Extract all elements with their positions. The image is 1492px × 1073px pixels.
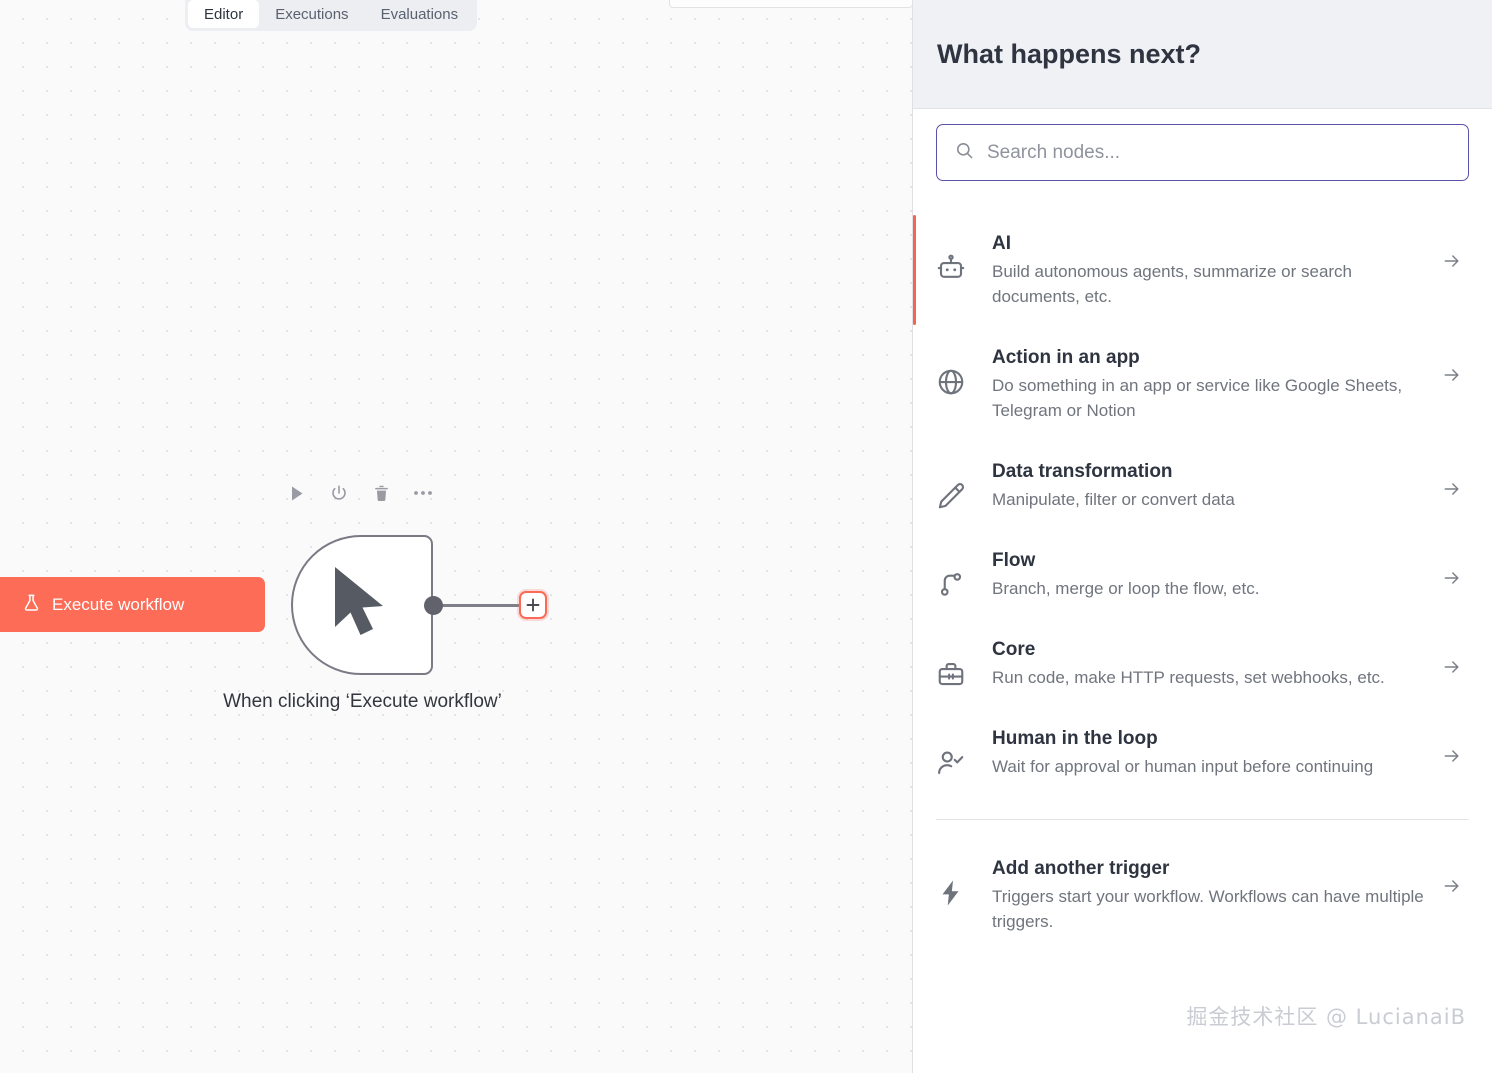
category-title: Add another trigger (992, 856, 1425, 882)
category-text: Core Run code, make HTTP requests, set w… (992, 637, 1441, 690)
category-action-in-an-app[interactable]: Action in an app Do something in an app … (936, 327, 1469, 441)
execute-workflow-button[interactable]: Execute workflow (0, 577, 265, 632)
category-title: Flow (992, 548, 1425, 574)
node-output-connector[interactable] (424, 596, 443, 615)
nodes-side-panel: What happens next? (912, 0, 1492, 1073)
panel-body: AI Build autonomous agents, summarize or… (913, 109, 1492, 1073)
execute-workflow-label: Execute workflow (52, 595, 184, 615)
add-node-plus-button[interactable] (519, 591, 547, 619)
category-title: Human in the loop (992, 726, 1425, 752)
category-description: Manipulate, filter or convert data (992, 487, 1425, 512)
play-icon[interactable] (286, 482, 308, 504)
chevron-right-icon[interactable] (1441, 345, 1469, 385)
category-description: Branch, merge or loop the flow, etc. (992, 576, 1425, 601)
user-check-icon (936, 726, 992, 778)
power-icon[interactable] (328, 482, 350, 504)
tab-evaluations[interactable]: Evaluations (365, 0, 475, 28)
flask-icon (22, 592, 41, 618)
category-core[interactable]: Core Run code, make HTTP requests, set w… (936, 619, 1469, 708)
category-title: AI (992, 231, 1425, 257)
lightning-bolt-icon (936, 856, 992, 908)
chevron-right-icon[interactable] (1441, 726, 1469, 766)
chevron-right-icon[interactable] (1441, 856, 1469, 896)
watermark: 掘金技术社区 @ LucianaiB (1186, 1001, 1466, 1031)
trigger-node-label: When clicking ‘Execute workflow’ (215, 687, 510, 717)
category-description: Run code, make HTTP requests, set webhoo… (992, 665, 1425, 690)
selected-accent-bar (913, 215, 916, 325)
pencil-icon (936, 459, 992, 511)
panel-title: What happens next? (937, 39, 1201, 70)
view-tabs: Editor Executions Evaluations (185, 0, 477, 31)
robot-icon (936, 231, 992, 283)
panel-header: What happens next? (913, 0, 1492, 109)
category-text: Add another trigger Triggers start your … (992, 856, 1441, 934)
ellipsis-icon[interactable] (412, 482, 434, 504)
search-icon (955, 141, 974, 165)
category-list: AI Build autonomous agents, summarize or… (936, 213, 1469, 952)
app-root: Editor Executions Evaluations Execute wo… (0, 0, 1492, 1073)
chevron-right-icon[interactable] (1441, 637, 1469, 677)
tab-executions[interactable]: Executions (259, 0, 364, 28)
category-description: Do something in an app or service like G… (992, 373, 1425, 423)
tab-editor[interactable]: Editor (188, 0, 259, 28)
category-description: Triggers start your workflow. Workflows … (992, 884, 1425, 934)
cursor-pointer-icon (329, 565, 395, 646)
search-nodes-box[interactable] (936, 124, 1469, 181)
category-title: Action in an app (992, 345, 1425, 371)
trigger-node[interactable] (291, 535, 433, 675)
category-add-another-trigger[interactable]: Add another trigger Triggers start your … (936, 838, 1469, 952)
section-divider (936, 819, 1469, 820)
connection-line (437, 604, 523, 607)
category-title: Data transformation (992, 459, 1425, 485)
category-title: Core (992, 637, 1425, 663)
category-text: Flow Branch, merge or loop the flow, etc… (992, 548, 1441, 601)
workflow-canvas[interactable]: Editor Executions Evaluations Execute wo… (0, 0, 913, 1073)
category-ai[interactable]: AI Build autonomous agents, summarize or… (936, 213, 1469, 327)
toolbox-icon (936, 637, 992, 689)
category-human-in-the-loop[interactable]: Human in the loop Wait for approval or h… (936, 708, 1469, 797)
node-hover-toolbar (286, 482, 434, 504)
git-branch-icon (936, 548, 992, 600)
category-description: Build autonomous agents, summarize or se… (992, 259, 1425, 309)
chevron-right-icon[interactable] (1441, 231, 1469, 271)
chevron-right-icon[interactable] (1441, 459, 1469, 499)
trash-icon[interactable] (370, 482, 392, 504)
globe-icon (936, 345, 992, 397)
plus-icon (525, 597, 541, 613)
category-data-transformation[interactable]: Data transformation Manipulate, filter o… (936, 441, 1469, 530)
category-description: Wait for approval or human input before … (992, 754, 1425, 779)
category-text: Human in the loop Wait for approval or h… (992, 726, 1441, 779)
category-flow[interactable]: Flow Branch, merge or loop the flow, etc… (936, 530, 1469, 619)
category-text: Data transformation Manipulate, filter o… (992, 459, 1441, 512)
search-input[interactable] (987, 142, 1450, 164)
top-right-toolbar (669, 0, 913, 8)
category-text: AI Build autonomous agents, summarize or… (992, 231, 1441, 309)
category-text: Action in an app Do something in an app … (992, 345, 1441, 423)
chevron-right-icon[interactable] (1441, 548, 1469, 588)
